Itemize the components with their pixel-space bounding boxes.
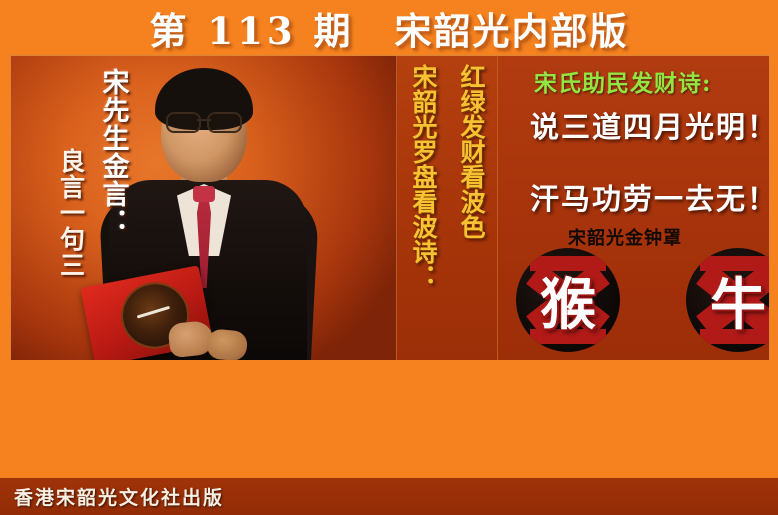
eyeglasses-icon xyxy=(166,112,242,129)
photo-caption-sub: 良言一句三 xyxy=(58,148,84,278)
photo-caption-main: 宋先生金言： xyxy=(99,68,127,236)
footer-bar: 香港宋韶光文化社出版 xyxy=(0,478,778,515)
portrait-photo xyxy=(103,64,313,361)
main-content-panel: 宋先生金言： 良言一句三 宋韶光罗盘看波诗： 红绿发财看波色 宋氏助民发财诗: … xyxy=(10,55,770,362)
gold-column-1: 宋韶光罗盘看波诗： xyxy=(411,64,436,289)
badge-section-title: 宋韶光金钟罩 xyxy=(568,224,682,250)
poem-line-2: 汗马功劳一去无！ xyxy=(530,176,770,218)
poem-section: 宋氏助民发财诗: 说三道四月光明！ 汗马功劳一去无！ 宋韶光金钟罩 猴 xyxy=(497,56,769,361)
zodiac-badge-group: 猴 牛 xyxy=(506,248,770,356)
zodiac-char-monkey: 猴 xyxy=(516,248,620,352)
poster-page: 第 113 期 宋韶光内部版 xyxy=(0,0,778,515)
lens-left xyxy=(166,112,201,133)
lens-right xyxy=(207,112,242,133)
gold-couplet-section: 宋韶光罗盘看波诗： 红绿发财看波色 xyxy=(396,56,497,361)
edition-title-label: 宋韶光内部版 xyxy=(395,1,629,55)
publisher-label: 香港宋韶光文化社出版 xyxy=(14,483,224,510)
necktie-knot xyxy=(193,186,215,202)
portrait-section: 宋先生金言： 良言一句三 xyxy=(11,56,396,361)
issue-number-label: 第 113 期 xyxy=(150,1,355,55)
poem-line-1: 说三道四月光明！ xyxy=(530,104,770,146)
hand-right xyxy=(206,328,248,361)
gold-column-2: 红绿发财看波色 xyxy=(459,64,484,239)
zodiac-badge-monkey[interactable]: 猴 xyxy=(516,248,620,352)
blank-orange-area xyxy=(0,360,778,478)
zodiac-badge-ox[interactable]: 牛 xyxy=(686,248,770,352)
zodiac-char-ox: 牛 xyxy=(686,248,770,352)
header-bar: 第 113 期 宋韶光内部版 xyxy=(0,0,778,55)
poem-heading: 宋氏助民发财诗: xyxy=(534,64,712,98)
